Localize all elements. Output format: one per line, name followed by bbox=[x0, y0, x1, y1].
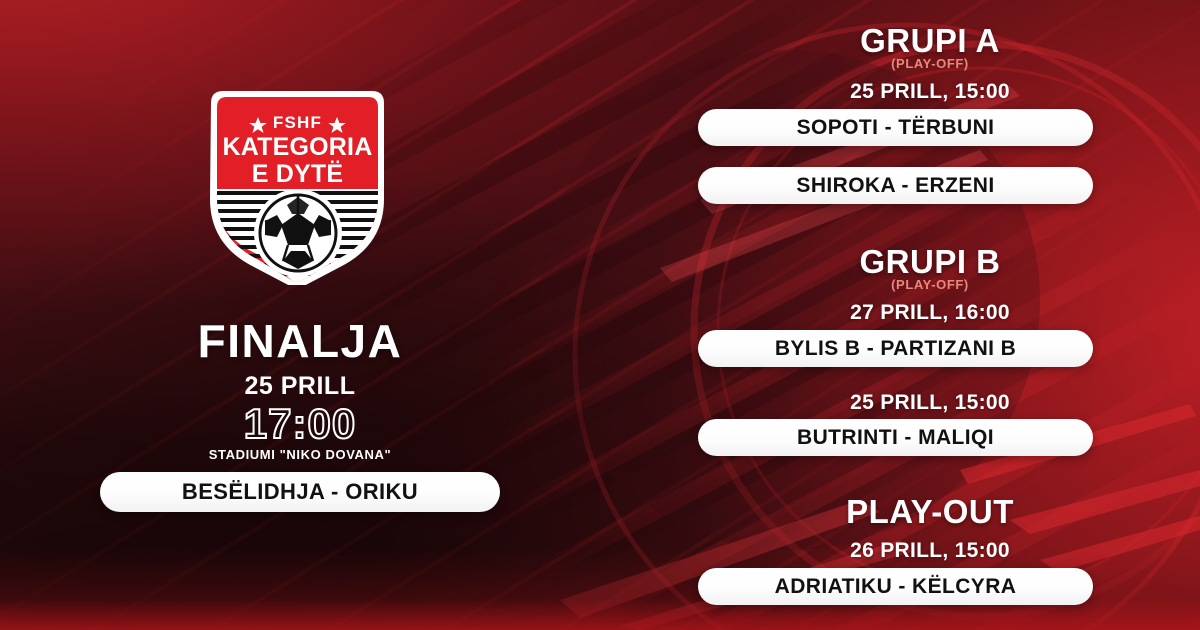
fixture-match-a2: SHIROKA - ERZENI bbox=[796, 174, 994, 198]
final-date: 25 PRILL bbox=[0, 374, 600, 399]
final-time: 17:00 bbox=[0, 403, 600, 445]
fixture-pill-b1[interactable]: BYLIS B - PARTIZANI B bbox=[698, 330, 1093, 367]
final-match-label: BESËLIDHJA - ORIKU bbox=[182, 479, 418, 505]
fixture-match-po1: ADRIATIKU - KËLCYRA bbox=[775, 575, 1017, 599]
final-title: FINALJA bbox=[0, 318, 600, 364]
fixture-match-b2: BUTRINTI - MALIQI bbox=[797, 426, 994, 450]
crest-line1: KATEGORIA bbox=[223, 133, 373, 161]
fixtures-poster: FSHF KATEGORIA E DYTË FINALJA 25 PRILL 1… bbox=[0, 0, 1200, 630]
fixture-match-a1: SOPOTI - TËRBUNI bbox=[797, 116, 995, 140]
fixture-pill-a2[interactable]: SHIROKA - ERZENI bbox=[698, 167, 1093, 204]
fixture-datetime-b2: 25 PRILL, 15:00 bbox=[660, 392, 1200, 413]
crest-line2: E DYTË bbox=[252, 160, 344, 188]
fixture-datetime-po1: 26 PRILL, 15:00 bbox=[660, 540, 1200, 561]
crest-svg: FSHF KATEGORIA E DYTË bbox=[205, 85, 390, 285]
left-column: FSHF KATEGORIA E DYTË FINALJA 25 PRILL 1… bbox=[0, 0, 600, 630]
final-venue: STADIUMI "NIKO DOVANA" bbox=[0, 448, 600, 461]
fixture-pill-b2[interactable]: BUTRINTI - MALIQI bbox=[698, 419, 1093, 456]
fixture-pill-a1[interactable]: SOPOTI - TËRBUNI bbox=[698, 109, 1093, 146]
final-match-pill[interactable]: BESËLIDHJA - ORIKU bbox=[100, 472, 500, 512]
fixture-datetime-a1: 25 PRILL, 15:00 bbox=[660, 81, 1200, 102]
soccer-ball-icon bbox=[260, 195, 336, 271]
section-title-play-out: PLAY-OUT bbox=[660, 495, 1200, 528]
fixture-match-b1: BYLIS B - PARTIZANI B bbox=[775, 337, 1016, 361]
fixture-datetime-b1: 27 PRILL, 16:00 bbox=[660, 302, 1200, 323]
section-title-grupi-a: GRUPI A bbox=[660, 24, 1200, 57]
right-column: GRUPI A (PLAY-OFF) 25 PRILL, 15:00 SOPOT… bbox=[660, 0, 1200, 630]
league-crest: FSHF KATEGORIA E DYTË bbox=[205, 85, 390, 285]
fixture-pill-po1[interactable]: ADRIATIKU - KËLCYRA bbox=[698, 568, 1093, 605]
crest-federation: FSHF bbox=[273, 113, 322, 132]
section-title-grupi-b: GRUPI B bbox=[660, 245, 1200, 278]
section-subtitle-grupi-a: (PLAY-OFF) bbox=[660, 57, 1200, 70]
section-subtitle-grupi-b: (PLAY-OFF) bbox=[660, 278, 1200, 291]
final-block: FINALJA 25 PRILL 17:00 STADIUMI "NIKO DO… bbox=[0, 318, 600, 461]
